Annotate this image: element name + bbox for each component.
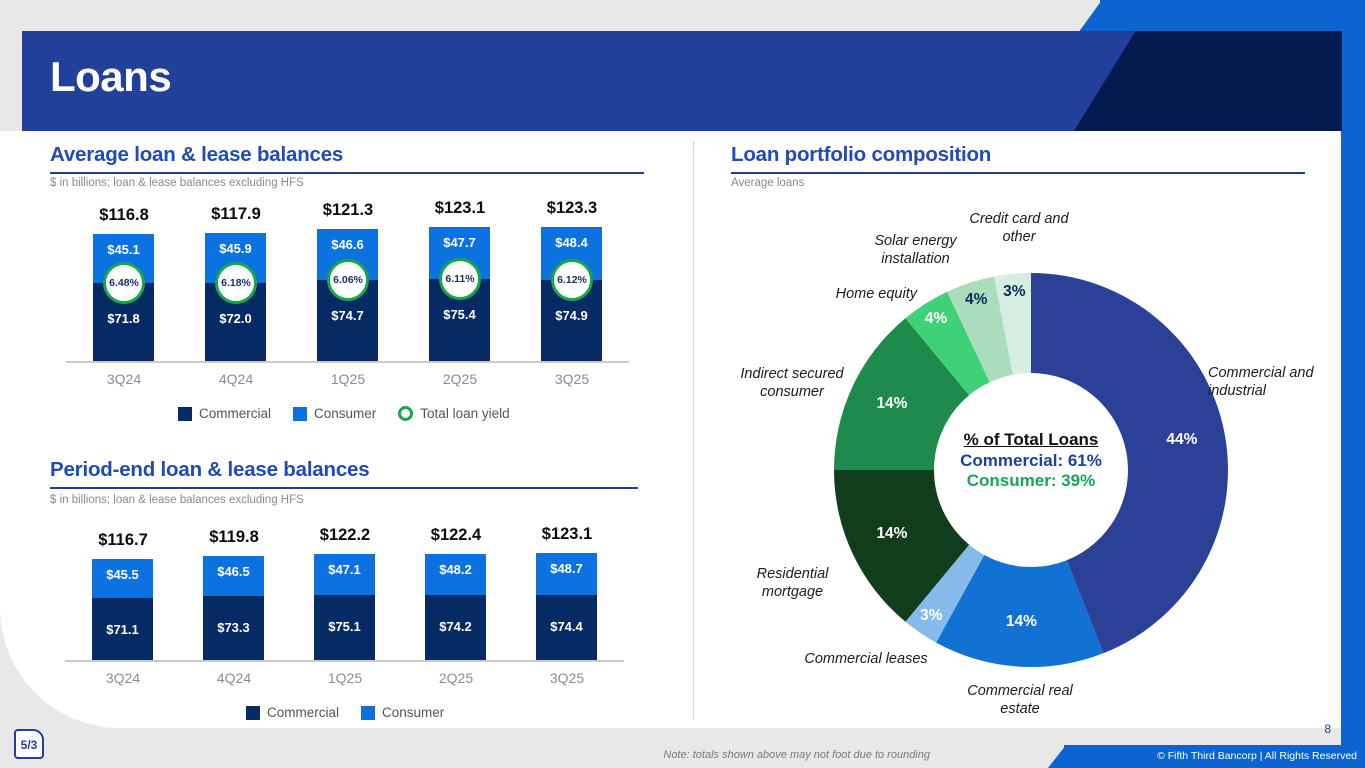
commercial-value-label: $73.3 (203, 620, 264, 635)
consumer-segment: $48.7 (536, 553, 597, 595)
donut-label-residential-mortgage: Residential mortgage (730, 565, 855, 601)
slide-header-bar (22, 31, 1342, 131)
legend-label: Consumer (382, 705, 444, 720)
consumer-value-label: $47.7 (429, 235, 490, 250)
commercial-segment: $73.3 (203, 596, 264, 660)
category-label: 4Q24 (181, 371, 291, 387)
bar-total-label: $122.4 (401, 526, 511, 545)
legend-item-commercial: Commercial (246, 705, 339, 720)
header-dark-wedge (1074, 31, 1342, 131)
donut-center-consumer: Consumer: 39% (933, 471, 1129, 492)
stacked-bar: $48.2$74.2 (425, 554, 486, 660)
period-chart-legend: Commercial Consumer (246, 705, 444, 720)
consumer-swatch-icon (293, 407, 307, 421)
commercial-value-label: $75.4 (429, 307, 490, 322)
category-label: 3Q24 (69, 371, 179, 387)
period-section-rule (50, 487, 638, 489)
bar-total-label: $122.2 (290, 526, 400, 545)
category-label: 2Q25 (401, 670, 511, 686)
footer-copyright: © Fifth Third Bancorp | All Rights Reser… (1157, 750, 1357, 762)
consumer-value-label: $48.4 (541, 235, 602, 250)
period-section-subtitle: $ in billions; loan & lease balances exc… (50, 494, 304, 506)
total-loan-yield-marker: 6.06% (327, 259, 369, 301)
bar-total-label: $116.8 (69, 206, 179, 225)
fifth-third-logo-icon: 5/3 (14, 729, 44, 759)
bar-total-label: $123.3 (517, 199, 627, 218)
commercial-value-label: $74.2 (425, 619, 486, 634)
bar-total-label: $123.1 (512, 525, 622, 544)
commercial-swatch-icon (246, 706, 260, 720)
bar-total-label: $116.7 (68, 531, 178, 550)
consumer-value-label: $48.7 (536, 561, 597, 576)
commercial-segment: $74.4 (536, 595, 597, 660)
total-loan-yield-marker: 6.48% (103, 262, 145, 304)
page-title: Loans (50, 53, 171, 101)
donut-label-commercial-and-industrial: Commercial and industrial (1208, 364, 1348, 400)
consumer-value-label: $48.2 (425, 562, 486, 577)
avg-section-rule (50, 172, 644, 174)
donut-center-heading: % of Total Loans (933, 430, 1129, 451)
commercial-value-label: $74.9 (541, 308, 602, 323)
commercial-value-label: $74.4 (536, 619, 597, 634)
bar-total-label: $119.8 (179, 528, 289, 547)
legend-label: Total loan yield (420, 406, 509, 421)
donut-label-indirect-secured-consumer: Indirect secured consumer (722, 365, 862, 401)
stacked-bar: $46.5$73.3 (203, 556, 264, 660)
bar-total-label: $121.3 (293, 201, 403, 220)
donut-section-title: Loan portfolio composition (731, 143, 991, 167)
slice-percent-label: 14% (862, 395, 922, 413)
slice-percent-label: 14% (862, 525, 922, 543)
legend-item-commercial: Commercial (178, 406, 271, 421)
slice-percent-label: 4% (906, 310, 966, 328)
consumer-value-label: $45.9 (205, 241, 266, 256)
period-section-title: Period-end loan & lease balances (50, 458, 369, 482)
category-label: 4Q24 (179, 670, 289, 686)
consumer-segment: $46.5 (203, 556, 264, 596)
bar-total-label: $123.1 (405, 199, 515, 218)
category-label: 2Q25 (405, 371, 515, 387)
svg-text:5/3: 5/3 (21, 738, 38, 752)
category-label: 1Q25 (290, 670, 400, 686)
commercial-segment: $74.2 (425, 595, 486, 659)
donut-center-commercial: Commercial: 61% (933, 451, 1129, 472)
panel-divider (693, 142, 694, 720)
stacked-bar: $45.5$71.1 (92, 559, 153, 660)
footer-note: Note: totals shown above may not foot du… (650, 749, 930, 761)
page-number: 8 (1324, 722, 1331, 736)
stacked-bar: $48.7$74.4 (536, 553, 597, 660)
consumer-value-label: $45.5 (92, 567, 153, 582)
commercial-swatch-icon (178, 407, 192, 421)
top-accent-band (1100, 0, 1365, 33)
legend-item-total-loan-yield: Total loan yield (398, 406, 509, 421)
yield-ring-icon (398, 406, 413, 421)
consumer-value-label: $45.1 (93, 242, 154, 257)
consumer-segment: $47.1 (314, 554, 375, 595)
donut-label-credit-card-and-other: Credit card and other (955, 210, 1083, 246)
slice-percent-label: 3% (984, 283, 1044, 301)
donut-section-subtitle: Average loans (731, 177, 804, 189)
legend-label: Commercial (267, 705, 339, 720)
stacked-bar: $47.1$75.1 (314, 554, 375, 660)
total-loan-yield-marker: 6.12% (551, 259, 593, 301)
bar-total-label: $117.9 (181, 205, 291, 224)
category-label: 3Q25 (517, 371, 627, 387)
legend-label: Commercial (199, 406, 271, 421)
slice-percent-label: 14% (991, 613, 1051, 631)
commercial-value-label: $71.1 (92, 622, 153, 637)
donut-section-rule (731, 172, 1305, 174)
slice-percent-label: 44% (1152, 431, 1212, 449)
consumer-segment: $45.5 (92, 559, 153, 599)
donut-label-commercial-leases: Commercial leases (796, 650, 936, 668)
commercial-value-label: $71.8 (93, 311, 154, 326)
commercial-segment: $75.1 (314, 595, 375, 660)
total-loan-yield-marker: 6.18% (215, 262, 257, 304)
commercial-segment: $71.1 (92, 598, 153, 660)
commercial-value-label: $74.7 (317, 308, 378, 323)
legend-label: Consumer (314, 406, 376, 421)
category-label: 3Q25 (512, 670, 622, 686)
commercial-value-label: $75.1 (314, 619, 375, 634)
logo-glyph: 5/3 (19, 734, 39, 754)
legend-item-consumer: Consumer (293, 406, 376, 421)
avg-section-title: Average loan & lease balances (50, 143, 343, 167)
total-loan-yield-marker: 6.11% (439, 258, 481, 300)
category-label: 1Q25 (293, 371, 403, 387)
avg-chart-legend: Commercial Consumer Total loan yield (178, 406, 510, 421)
legend-item-consumer: Consumer (361, 705, 444, 720)
consumer-value-label: $46.5 (203, 564, 264, 579)
consumer-value-label: $46.6 (317, 237, 378, 252)
donut-label-commercial-real-estate: Commercial real estate (950, 682, 1090, 718)
consumer-value-label: $47.1 (314, 562, 375, 577)
consumer-swatch-icon (361, 706, 375, 720)
slice-percent-label: 3% (901, 607, 961, 625)
donut-center-text: % of Total Loans Commercial: 61% Consume… (933, 430, 1129, 510)
donut-label-home-equity: Home equity (812, 285, 917, 303)
avg-section-subtitle: $ in billions; loan & lease balances exc… (50, 177, 304, 189)
commercial-value-label: $72.0 (205, 311, 266, 326)
category-label: 3Q24 (68, 670, 178, 686)
consumer-segment: $48.2 (425, 554, 486, 596)
